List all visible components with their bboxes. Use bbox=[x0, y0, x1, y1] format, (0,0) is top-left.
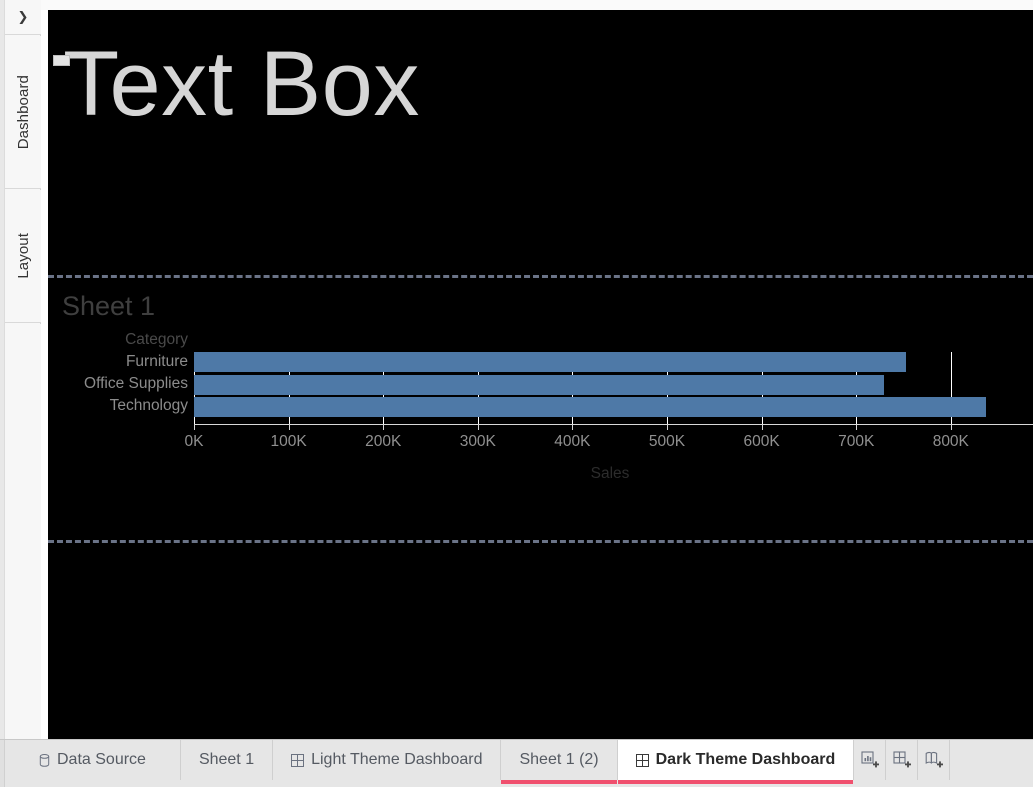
x-tick-600k: 600K bbox=[743, 433, 779, 451]
canvas-left-gutter bbox=[41, 10, 48, 739]
dashboard-grid-icon bbox=[291, 754, 304, 767]
zone-resize-handle[interactable] bbox=[53, 55, 70, 66]
bottom-tab-bar: Data Source Sheet 1 Light Theme Dashboar… bbox=[0, 739, 1033, 787]
sidebar-expand-button[interactable]: ❯ bbox=[5, 0, 41, 35]
bar-furniture[interactable] bbox=[194, 352, 906, 372]
sidebar-tab-dashboard[interactable]: Dashboard bbox=[5, 36, 41, 189]
sidebar-tab-layout[interactable]: Layout bbox=[5, 190, 41, 323]
tab-sheet-1-2[interactable]: Sheet 1 (2) bbox=[501, 740, 617, 780]
tab-sheet-1-2-underline bbox=[501, 780, 616, 784]
zone-divider-top[interactable] bbox=[48, 275, 1033, 278]
dashboard-grid-icon bbox=[636, 754, 649, 767]
zone-divider-bottom[interactable] bbox=[48, 540, 1033, 543]
tab-dark-theme-dashboard[interactable]: Dark Theme Dashboard bbox=[618, 740, 855, 780]
bar-technology[interactable] bbox=[194, 397, 986, 417]
tab-sheet-1-2-label: Sheet 1 (2) bbox=[519, 751, 598, 769]
database-icon bbox=[39, 754, 50, 767]
bar-office-supplies[interactable] bbox=[194, 375, 884, 395]
new-worksheet-icon bbox=[861, 751, 879, 769]
x-tick-0: 0K bbox=[185, 433, 204, 451]
x-tick-300k: 300K bbox=[460, 433, 496, 451]
x-axis-line bbox=[194, 424, 1033, 425]
x-tick-200k: 200K bbox=[365, 433, 401, 451]
tab-row: Data Source Sheet 1 Light Theme Dashboar… bbox=[5, 740, 1033, 784]
tab-sheet-1-label: Sheet 1 bbox=[199, 751, 254, 769]
x-tick-100k: 100K bbox=[270, 433, 306, 451]
new-dashboard-button[interactable] bbox=[886, 740, 918, 780]
new-dashboard-icon bbox=[893, 751, 911, 769]
new-story-button[interactable] bbox=[918, 740, 950, 780]
dashboard-empty-zone[interactable] bbox=[48, 544, 1033, 739]
category-label-furniture: Furniture bbox=[126, 353, 188, 371]
text-box-content: Text Box bbox=[63, 36, 420, 133]
category-label-technology: Technology bbox=[110, 397, 188, 415]
tableau-dashboard-window: ❯ Dashboard Layout Text Box Sheet 1 Cate… bbox=[0, 0, 1033, 787]
dashboard-canvas[interactable]: Text Box Sheet 1 Category Furniture Offi… bbox=[48, 10, 1033, 739]
bar-chart[interactable]: Category Furniture Office Supplies Techn… bbox=[48, 331, 1033, 536]
dashboard-object-sheet-1[interactable]: Sheet 1 Category Furniture Office Suppli… bbox=[48, 279, 1033, 539]
left-sidebar: ❯ Dashboard Layout bbox=[0, 0, 41, 739]
worksheet-title: Sheet 1 bbox=[62, 291, 155, 322]
sidebar-tab-layout-label: Layout bbox=[15, 233, 32, 279]
sidebar-tab-dashboard-label: Dashboard bbox=[15, 75, 32, 149]
sidebar-empty-area bbox=[5, 324, 41, 739]
plot-area bbox=[194, 352, 1033, 424]
x-tick-800k: 800K bbox=[933, 433, 969, 451]
canvas-top-gutter bbox=[41, 0, 1033, 10]
category-axis-header: Category bbox=[125, 331, 188, 349]
x-tick-500k: 500K bbox=[649, 433, 685, 451]
tab-sheet-1[interactable]: Sheet 1 bbox=[181, 740, 273, 780]
new-worksheet-button[interactable] bbox=[854, 740, 886, 780]
new-story-icon bbox=[925, 751, 943, 769]
x-tick-700k: 700K bbox=[838, 433, 874, 451]
category-label-office-supplies: Office Supplies bbox=[84, 375, 188, 393]
tab-light-theme-dashboard-label: Light Theme Dashboard bbox=[311, 751, 482, 769]
x-axis-title: Sales bbox=[591, 465, 630, 483]
tab-dark-theme-dashboard-label: Dark Theme Dashboard bbox=[656, 751, 836, 769]
tab-data-source[interactable]: Data Source bbox=[5, 740, 181, 780]
tab-dark-theme-dashboard-underline bbox=[618, 780, 854, 784]
dashboard-object-text-box[interactable]: Text Box bbox=[48, 10, 1033, 266]
tab-data-source-label: Data Source bbox=[57, 751, 146, 769]
x-tick-400k: 400K bbox=[554, 433, 590, 451]
chevron-right-icon: ❯ bbox=[18, 11, 29, 24]
tab-light-theme-dashboard[interactable]: Light Theme Dashboard bbox=[273, 740, 501, 780]
